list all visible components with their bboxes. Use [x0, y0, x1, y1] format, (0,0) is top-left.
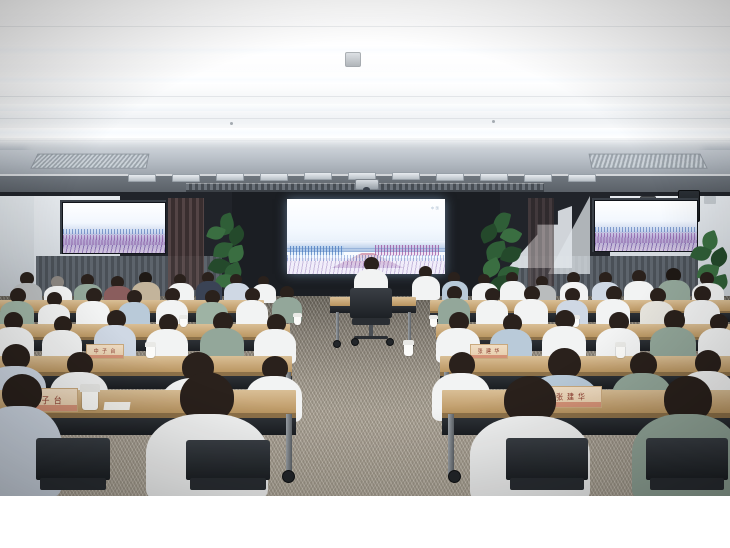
letterbox-bottom [0, 496, 730, 548]
conference-room-photo: 中 国 [0, 0, 730, 496]
sprinkler-icon [492, 120, 495, 123]
ceiling-light-strip-3 [0, 104, 730, 111]
right-side-display[interactable] [594, 200, 698, 252]
chair-front-far-right[interactable] [646, 438, 728, 496]
hvac-grille-right [589, 154, 708, 169]
ceiling-sensor-icon [345, 52, 361, 67]
main-screen-corner-text: 中 国 [431, 206, 439, 210]
sprinkler-icon [230, 122, 233, 125]
chair-front-right[interactable] [506, 438, 588, 496]
hvac-grille-left [30, 154, 149, 169]
document-paper [103, 402, 130, 410]
chair-front-left[interactable] [36, 438, 110, 496]
curtain-right [528, 198, 554, 286]
screenshot-root: 中 国 [0, 0, 730, 548]
ceiling-light-strip-2 [0, 76, 730, 84]
presenter-chair[interactable] [350, 288, 392, 342]
mug-front-left [82, 390, 98, 410]
chair-front-center[interactable] [186, 440, 270, 496]
left-side-display[interactable] [62, 202, 166, 254]
exit-sign-icon [704, 196, 716, 204]
ceiling-light-strip-1 [0, 46, 730, 55]
ceiling-light-strip-4 [0, 128, 730, 138]
